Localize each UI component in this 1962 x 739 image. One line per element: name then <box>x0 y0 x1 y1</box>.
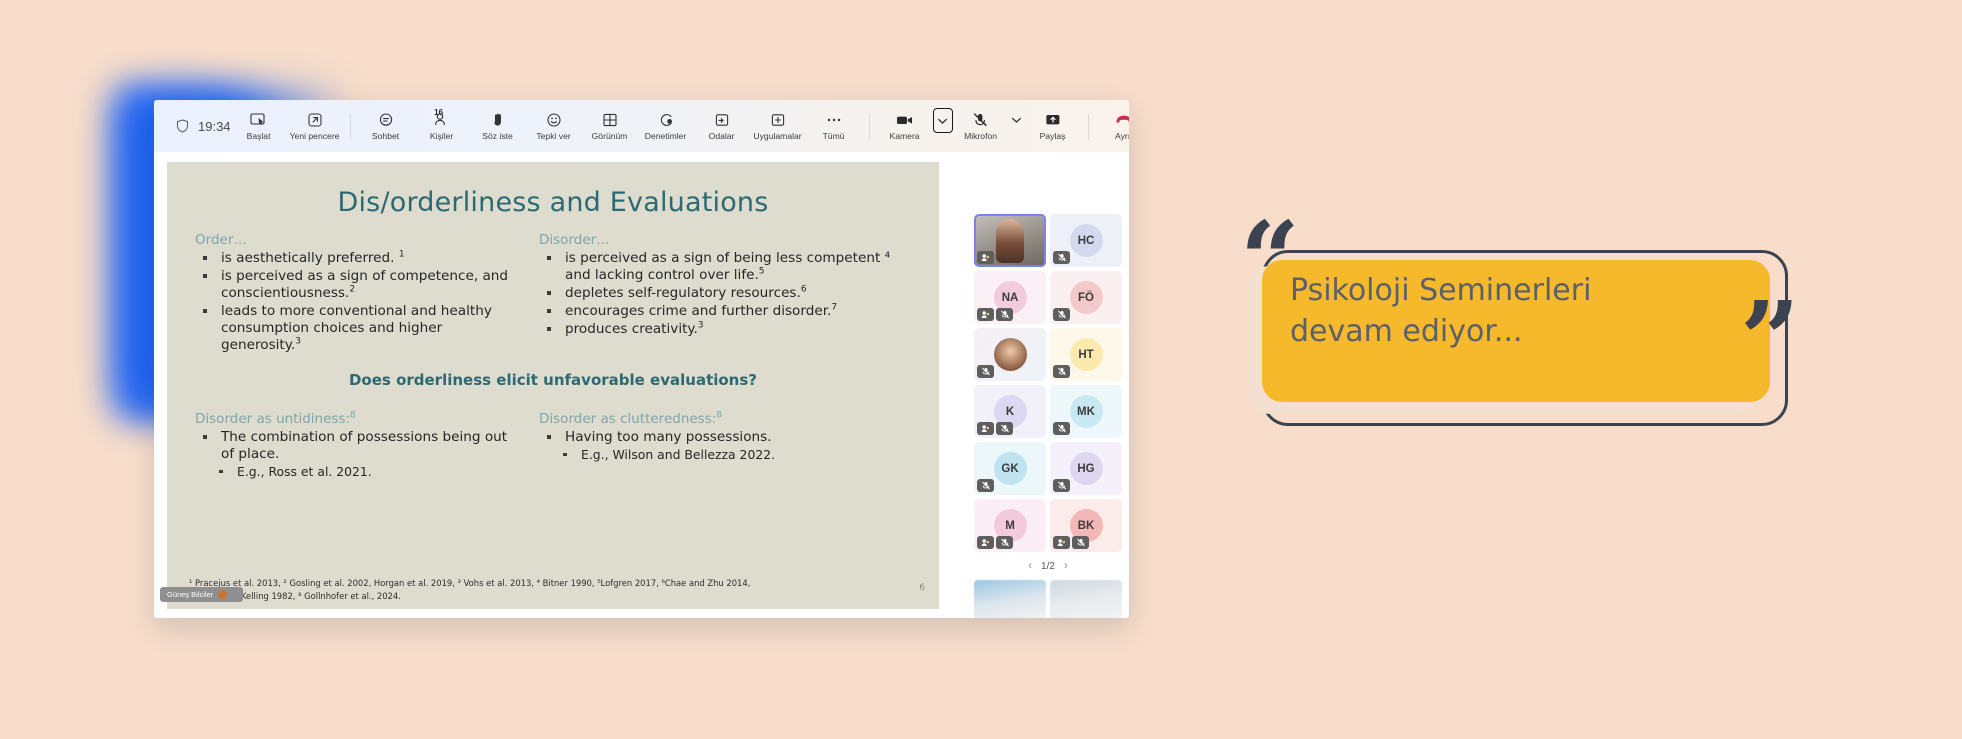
grid-view-icon <box>602 110 618 129</box>
bullet-text: encourages crime and further disorder. <box>565 303 831 319</box>
presenter-speaking-icon <box>218 590 227 599</box>
avatar-initials: FÖ <box>1078 292 1094 304</box>
disorder-heading: Disorder… <box>539 232 917 248</box>
tile-status-pills <box>1053 422 1070 435</box>
quote-line-1: Psikoloji Seminerleri <box>1290 270 1750 311</box>
share-pill-icon <box>977 308 994 321</box>
list-item: depletes self-regulatory resources.6 <box>539 285 917 302</box>
tile-status-pills <box>977 251 994 264</box>
toolbar-apps[interactable]: Uygulamalar <box>750 110 806 141</box>
participant-row: M BK <box>974 499 1122 552</box>
order-column: Order… is aesthetically preferred. 1 is … <box>189 232 519 355</box>
bullet-sup: 1 <box>399 249 405 259</box>
camera-icon <box>895 110 915 129</box>
shared-content-area: Dis/orderliness and Evaluations Order… i… <box>154 152 1129 618</box>
avatar: MK <box>1070 395 1103 428</box>
toolbar-start-label: Başlat <box>247 132 271 141</box>
share-pill-icon <box>977 422 994 435</box>
microphone-label: Mikrofon <box>964 132 997 141</box>
toolbar-raise-hand-label: Söz iste <box>482 132 513 141</box>
avatar: HG <box>1070 452 1103 485</box>
avatar: HT <box>1070 338 1103 371</box>
toolbar-react-label: Tepki ver <box>536 132 570 141</box>
clutteredness-heading-sup: 8 <box>716 410 722 420</box>
chevron-down-icon <box>935 111 951 130</box>
participant-row: HT <box>974 328 1122 381</box>
participant-row: K MK <box>974 385 1122 438</box>
list-item: is perceived as a sign of competence, an… <box>195 268 519 302</box>
tile-status-pills <box>977 536 1013 549</box>
toolbar-view-label: Görünüm <box>592 132 628 141</box>
clutteredness-bullet-list: Having too many possessions. <box>533 429 917 446</box>
shield-icon <box>176 119 189 133</box>
tile-status-pills <box>1053 251 1070 264</box>
bullet-text: is aesthetically preferred. <box>221 250 399 266</box>
start-presenting-icon <box>250 110 267 129</box>
avatar: FÖ <box>1070 281 1103 314</box>
meeting-toolbar: 19:34 Başlat Yeni pencere Sohbet <box>154 100 1129 153</box>
tile-status-pills <box>977 422 1013 435</box>
chevron-left-icon[interactable]: ‹ <box>1028 560 1032 572</box>
avatar-initials: HG <box>1077 463 1094 475</box>
avatar-initials: BK <box>1078 520 1095 532</box>
people-count-badge: 16 <box>434 109 443 117</box>
untidiness-heading-sup: 8 <box>350 410 356 420</box>
presenter-name-label: Güneş Bilciler <box>167 590 213 599</box>
avatar-initials: MK <box>1077 406 1095 418</box>
quote-card: Psikoloji Seminerleri devam ediyor... “ … <box>1240 250 1820 430</box>
microphone-muted-icon <box>972 110 989 129</box>
clutteredness-column: Disorder as clutteredness:8 Having too m… <box>533 411 917 479</box>
camera-label: Kamera <box>890 132 920 141</box>
toolbar-apps-label: Uygulamalar <box>753 132 801 141</box>
toolbar-controls[interactable]: Denetimler <box>638 110 694 141</box>
chevron-right-icon[interactable]: › <box>1064 560 1068 572</box>
toolbar-new-window[interactable]: Yeni pencere <box>287 110 343 141</box>
list-item: E.g., Wilson and Bellezza 2022. <box>555 447 917 463</box>
slide-columns-top: Order… is aesthetically preferred. 1 is … <box>167 218 939 355</box>
toolbar-more[interactable]: Tümü <box>806 110 862 141</box>
camera-options-chevron-button[interactable] <box>933 108 953 133</box>
apps-plus-icon <box>770 110 786 129</box>
participant-tile-gk[interactable]: GK <box>974 442 1046 495</box>
bullet-sup: 3 <box>295 336 301 346</box>
hangup-icon <box>1114 110 1129 129</box>
presenter-name-tag: Güneş Bilciler <box>160 587 243 602</box>
avatar-initials: K <box>1006 406 1014 418</box>
slide-title: Dis/orderliness and Evaluations <box>167 162 939 218</box>
bullet-sup: 6 <box>801 284 807 294</box>
share-pill-icon <box>1053 536 1070 549</box>
clutteredness-sub-list: E.g., Wilson and Bellezza 2022. <box>533 447 917 463</box>
footnote-line-1: ¹ Pracejus et al. 2013, ² Gosling et al.… <box>189 577 921 590</box>
list-item: E.g., Ross et al. 2021. <box>211 464 519 480</box>
order-bullet-list: is aesthetically preferred. 1 is perceiv… <box>189 250 519 354</box>
call-controls: Kamera Mikrofon <box>877 110 1129 141</box>
order-heading: Order… <box>195 232 519 248</box>
quote-text: Psikoloji Seminerleri devam ediyor... <box>1290 270 1750 353</box>
share-screen-icon <box>1044 110 1062 129</box>
leave-button[interactable]: Ayrıl <box>1096 110 1129 141</box>
participant-row: HC <box>974 214 1122 267</box>
clutteredness-heading-text: Disorder as clutteredness: <box>539 411 716 427</box>
mic-muted-pill-icon <box>977 479 994 492</box>
toolbar-new-window-label: Yeni pencere <box>290 132 340 141</box>
untidiness-sub-list: E.g., Ross et al. 2021. <box>189 464 519 480</box>
toolbar-controls-label: Denetimler <box>645 132 687 141</box>
pagination-label: 1/2 <box>1041 561 1055 572</box>
tile-status-pills <box>1053 365 1070 378</box>
participant-tile-photo[interactable] <box>974 328 1046 381</box>
participant-row: GK HG <box>974 442 1122 495</box>
disorder-bullet-list: is perceived as a sign of being less com… <box>533 250 917 338</box>
toolbar-view[interactable]: Görünüm <box>582 110 638 141</box>
share-label: Paylaş <box>1040 132 1066 141</box>
meeting-clock: 19:34 <box>176 119 231 134</box>
avatar: GK <box>994 452 1027 485</box>
mic-muted-pill-icon <box>1053 251 1070 264</box>
emoji-icon <box>546 110 562 129</box>
avatar-initials: HC <box>1078 235 1095 247</box>
participant-tile-fo[interactable]: FÖ <box>1050 271 1122 324</box>
slide-footnotes: ¹ Pracejus et al. 2013, ² Gosling et al.… <box>189 577 921 603</box>
mic-muted-pill-icon <box>1053 308 1070 321</box>
chevron-down-icon <box>1009 110 1025 129</box>
list-item: leads to more conventional and healthy c… <box>195 303 519 354</box>
open-quote-icon: “ <box>1240 208 1300 312</box>
toolbar-actions: Başlat Yeni pencere Sohbet 16 <box>231 110 1129 141</box>
bullet-text: is perceived as a sign of competence, an… <box>221 268 508 301</box>
footnote-line-2: ⁷Wilson and Kelling 1982, ⁸ Gollnhofer e… <box>189 590 921 603</box>
mic-muted-pill-icon <box>996 536 1013 549</box>
additional-video-strip <box>974 580 1122 618</box>
participant-tile-ht[interactable]: HT <box>1050 328 1122 381</box>
video-thumbnail[interactable] <box>1050 580 1122 618</box>
new-window-icon <box>307 110 323 129</box>
tile-status-pills <box>977 365 994 378</box>
mic-muted-pill-icon <box>1053 365 1070 378</box>
bullet-text: produces creativity. <box>565 321 698 337</box>
list-item: The combination of possessions being out… <box>195 429 519 463</box>
mic-muted-pill-icon <box>1072 536 1089 549</box>
toolbar-rooms-label: Odalar <box>709 132 735 141</box>
quote-line-2: devam ediyor... <box>1290 311 1750 352</box>
toolbar-react[interactable]: Tepki ver <box>526 110 582 141</box>
avatar: HC <box>1070 224 1103 257</box>
presentation-slide[interactable]: Dis/orderliness and Evaluations Order… i… <box>167 162 939 609</box>
untidiness-heading: Disorder as untidiness:8 <box>195 411 519 427</box>
raise-hand-icon <box>491 110 505 129</box>
list-item: is perceived as a sign of being less com… <box>539 250 917 284</box>
toolbar-divider <box>350 114 351 140</box>
participant-tile-na[interactable]: NA <box>974 271 1046 324</box>
list-item: Having too many possessions. <box>539 429 917 446</box>
bullet-sup: 2 <box>349 284 355 294</box>
microphone-button[interactable]: Mikrofon <box>953 110 1009 141</box>
share-pill-icon <box>977 536 994 549</box>
untidiness-heading-text: Disorder as untidiness: <box>195 411 350 427</box>
toolbar-rooms[interactable]: Odalar <box>694 110 750 141</box>
avatar-initials: NA <box>1002 292 1019 304</box>
bullet-sup: 7 <box>831 302 837 312</box>
toolbar-start[interactable]: Başlat <box>231 110 287 141</box>
participant-tile-m[interactable]: M <box>974 499 1046 552</box>
mic-muted-pill-icon <box>996 422 1013 435</box>
list-item: is aesthetically preferred. 1 <box>195 250 519 267</box>
participant-row: NA FÖ <box>974 271 1122 324</box>
leave-label: Ayrıl <box>1115 132 1129 141</box>
participant-tile-self[interactable] <box>974 214 1046 267</box>
untidiness-column: Disorder as untidiness:8 The combination… <box>189 411 519 479</box>
toolbar-people-label: Kişiler <box>430 132 453 141</box>
clutteredness-heading: Disorder as clutteredness:8 <box>539 411 917 427</box>
mic-muted-pill-icon <box>996 308 1013 321</box>
share-pill-icon <box>977 251 994 264</box>
list-item: encourages crime and further disorder.7 <box>539 303 917 320</box>
breakout-rooms-icon <box>714 110 730 129</box>
more-ellipsis-icon <box>825 110 843 129</box>
chat-icon <box>378 110 394 129</box>
bullet-text: depletes self-regulatory resources. <box>565 285 801 301</box>
share-button[interactable]: Paylaş <box>1025 110 1081 141</box>
camera-button[interactable]: Kamera <box>877 110 933 141</box>
slide-question: Does orderliness elicit unfavorable eval… <box>167 371 939 389</box>
participants-pagination: ‹ 1/2 › <box>974 556 1122 576</box>
video-thumbnail[interactable] <box>974 580 1046 618</box>
toolbar-raise-hand[interactable]: Söz iste <box>470 110 526 141</box>
teams-meeting-window: 19:34 Başlat Yeni pencere Sohbet <box>154 100 1129 618</box>
toolbar-chat[interactable]: Sohbet <box>358 110 414 141</box>
mic-muted-pill-icon <box>1053 422 1070 435</box>
toolbar-more-label: Tümü <box>823 132 845 141</box>
people-icon: 16 <box>434 110 449 129</box>
participant-tile-hc[interactable]: HC <box>1050 214 1122 267</box>
avatar-initials: GK <box>1001 463 1018 475</box>
participants-panel: HC NA FÖ <box>974 214 1122 618</box>
avatar-initials: HT <box>1078 349 1093 361</box>
bullet-sup: 3 <box>698 320 704 330</box>
avatar-initials: M <box>1005 520 1015 532</box>
bullet-text: leads to more conventional and healthy c… <box>221 303 492 353</box>
clock-time: 19:34 <box>198 119 231 134</box>
slide-columns-bottom: Disorder as untidiness:8 The combination… <box>167 389 939 479</box>
tile-status-pills <box>977 308 1013 321</box>
bullet-sup: 5 <box>759 266 765 276</box>
bullet-text: is perceived as a sign of being less com… <box>565 250 890 283</box>
participant-tile-hg[interactable]: HG <box>1050 442 1122 495</box>
slide-page-number: 6 <box>919 583 925 593</box>
toolbar-people[interactable]: 16 Kişiler <box>414 110 470 141</box>
tile-status-pills <box>1053 479 1070 492</box>
participant-tile-bk[interactable]: BK <box>1050 499 1122 552</box>
microphone-options-chevron-button[interactable] <box>1009 110 1025 129</box>
tile-status-pills <box>1053 536 1089 549</box>
avatar <box>994 338 1027 371</box>
mic-muted-pill-icon <box>1053 479 1070 492</box>
tile-status-pills <box>977 479 994 492</box>
toolbar-divider-3 <box>1088 114 1089 140</box>
close-quote-icon: ” <box>1740 288 1800 392</box>
controls-icon <box>658 110 674 129</box>
participant-tile-mk[interactable]: MK <box>1050 385 1122 438</box>
participant-tile-k[interactable]: K <box>974 385 1046 438</box>
list-item: produces creativity.3 <box>539 321 917 338</box>
mic-muted-pill-icon <box>977 365 994 378</box>
disorder-column: Disorder… is perceived as a sign of bein… <box>533 232 917 355</box>
untidiness-bullet-list: The combination of possessions being out… <box>189 429 519 463</box>
tile-status-pills <box>1053 308 1070 321</box>
toolbar-divider-2 <box>869 114 870 140</box>
toolbar-chat-label: Sohbet <box>372 132 399 141</box>
